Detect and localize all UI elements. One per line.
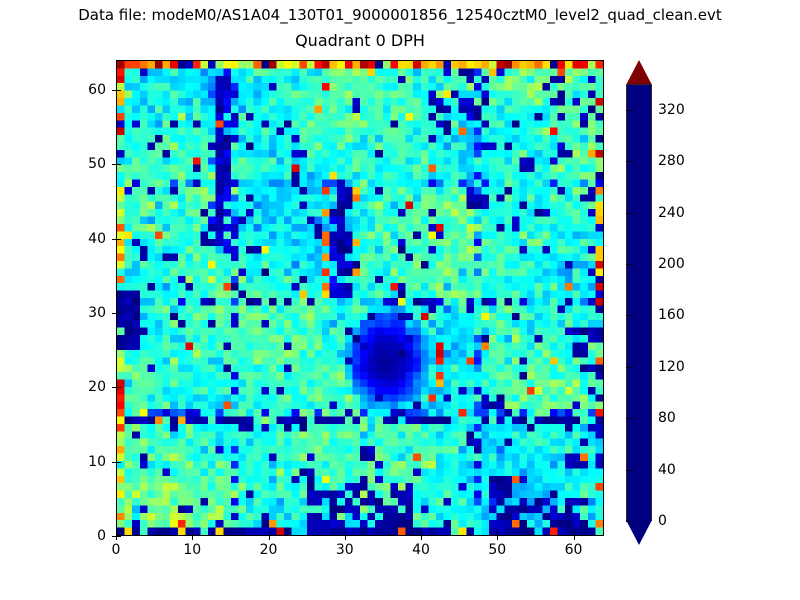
colorbar-tick-mark bbox=[626, 521, 632, 522]
y-tick-mark bbox=[112, 164, 116, 165]
colorbar-tick-label: 40 bbox=[658, 462, 676, 478]
x-tick-mark bbox=[269, 536, 270, 540]
y-tick-mark-inner bbox=[117, 164, 121, 165]
x-tick-label: 40 bbox=[391, 542, 451, 558]
y-tick-mark bbox=[112, 313, 116, 314]
colorbar-body bbox=[626, 84, 652, 521]
y-tick-label: 20 bbox=[58, 379, 106, 395]
x-tick-label: 30 bbox=[315, 542, 375, 558]
colorbar-tick-mark bbox=[626, 367, 632, 368]
matplotlib-figure: Data file: modeM0/AS1A04_130T01_90000018… bbox=[0, 0, 800, 600]
x-tick-mark-inner bbox=[116, 531, 117, 535]
colorbar-tick-mark bbox=[626, 161, 632, 162]
x-tick-mark-inner bbox=[574, 531, 575, 535]
x-tick-label: 50 bbox=[467, 542, 527, 558]
x-tick-label: 10 bbox=[162, 542, 222, 558]
y-tick-label: 0 bbox=[58, 528, 106, 544]
x-tick-mark-inner bbox=[345, 531, 346, 535]
colorbar-tick-mark bbox=[626, 315, 632, 316]
colorbar bbox=[626, 60, 652, 545]
colorbar-tick-label: 80 bbox=[658, 410, 676, 426]
colorbar-tick-mark bbox=[626, 110, 632, 111]
colorbar-tick-label: 280 bbox=[658, 153, 685, 169]
colorbar-tick-mark bbox=[626, 470, 632, 471]
detector-heatmap-image bbox=[117, 61, 603, 535]
x-tick-mark bbox=[345, 536, 346, 540]
colorbar-tick-label: 320 bbox=[658, 102, 685, 118]
x-tick-label: 60 bbox=[544, 542, 604, 558]
y-tick-label: 40 bbox=[58, 231, 106, 247]
y-tick-mark-inner bbox=[117, 239, 121, 240]
y-tick-mark bbox=[112, 462, 116, 463]
y-tick-mark bbox=[112, 239, 116, 240]
y-tick-mark-inner bbox=[117, 387, 121, 388]
x-tick-mark bbox=[497, 536, 498, 540]
colorbar-tick-mark bbox=[626, 264, 632, 265]
y-tick-mark-inner bbox=[117, 536, 121, 537]
heatmap-axes bbox=[116, 60, 604, 536]
x-tick-mark bbox=[421, 536, 422, 540]
y-tick-mark-inner bbox=[117, 90, 121, 91]
colorbar-tick-label: 160 bbox=[658, 307, 685, 323]
y-tick-label: 10 bbox=[58, 454, 106, 470]
axes-title: Quadrant 0 DPH bbox=[116, 31, 604, 51]
y-tick-mark bbox=[112, 90, 116, 91]
colorbar-tick-label: 200 bbox=[658, 256, 685, 272]
colorbar-tick-label: 240 bbox=[658, 205, 685, 221]
colorbar-tick-mark bbox=[626, 213, 632, 214]
colorbar-gradient bbox=[627, 85, 651, 520]
y-tick-mark bbox=[112, 387, 116, 388]
colorbar-over-arrow-icon bbox=[626, 60, 652, 85]
x-tick-mark-inner bbox=[497, 531, 498, 535]
x-tick-mark bbox=[574, 536, 575, 540]
x-tick-mark-inner bbox=[269, 531, 270, 535]
y-tick-label: 60 bbox=[58, 82, 106, 98]
figure-suptitle: Data file: modeM0/AS1A04_130T01_90000018… bbox=[0, 6, 800, 24]
colorbar-under-arrow-icon bbox=[626, 520, 652, 545]
y-tick-label: 50 bbox=[58, 156, 106, 172]
x-tick-mark-inner bbox=[421, 531, 422, 535]
y-tick-mark-inner bbox=[117, 313, 121, 314]
colorbar-tick-label: 0 bbox=[658, 513, 667, 529]
colorbar-tick-mark bbox=[626, 418, 632, 419]
y-tick-mark-inner bbox=[117, 462, 121, 463]
y-tick-mark bbox=[112, 536, 116, 537]
x-tick-mark-inner bbox=[192, 531, 193, 535]
x-tick-mark bbox=[192, 536, 193, 540]
colorbar-tick-label: 120 bbox=[658, 359, 685, 375]
y-tick-label: 30 bbox=[58, 305, 106, 321]
x-tick-label: 20 bbox=[239, 542, 299, 558]
x-tick-label: 0 bbox=[86, 542, 146, 558]
